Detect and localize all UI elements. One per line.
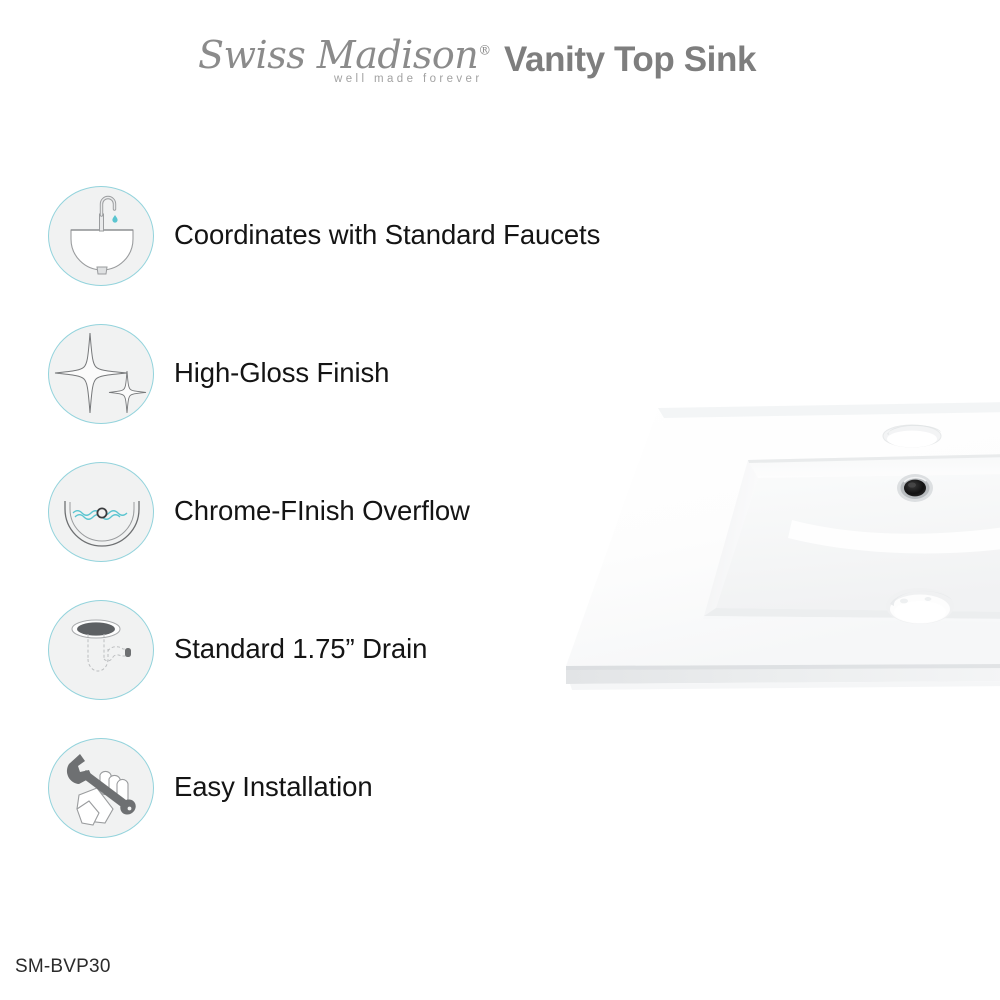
- feature-label: Chrome-FInish Overflow: [174, 495, 470, 527]
- brand-logo: Swiss Madison® well made forever: [198, 33, 486, 93]
- page-header: Swiss Madison® well made forever Vanity …: [0, 0, 1000, 110]
- brand-tagline: well made forever: [334, 73, 483, 85]
- drain-p-trap-icon: [48, 600, 154, 700]
- product-sku: SM-BVP30: [15, 956, 111, 978]
- brand-name-text: Swiss Madison: [198, 33, 478, 77]
- brand-wordmark: Swiss Madison®: [198, 33, 486, 77]
- feature-label: Coordinates with Standard Faucets: [174, 219, 600, 251]
- sink-basin-faucet-icon: [48, 186, 154, 286]
- feature-label: Standard 1.75” Drain: [174, 633, 427, 665]
- sparkle-shine-icon: [48, 324, 154, 424]
- feature-label: High-Gloss Finish: [174, 357, 389, 389]
- feature-label: Easy Installation: [174, 771, 373, 803]
- overflow-water-basin-icon: [48, 462, 154, 562]
- product-photo-vanity-top-sink: [552, 398, 1000, 698]
- registered-trademark-icon: ®: [478, 43, 491, 58]
- feature-item-faucets: Coordinates with Standard Faucets: [0, 186, 700, 324]
- feature-item-installation: Easy Installation: [0, 738, 700, 876]
- page-title: Vanity Top Sink: [504, 40, 756, 80]
- wrench-hand-icon: [48, 738, 154, 838]
